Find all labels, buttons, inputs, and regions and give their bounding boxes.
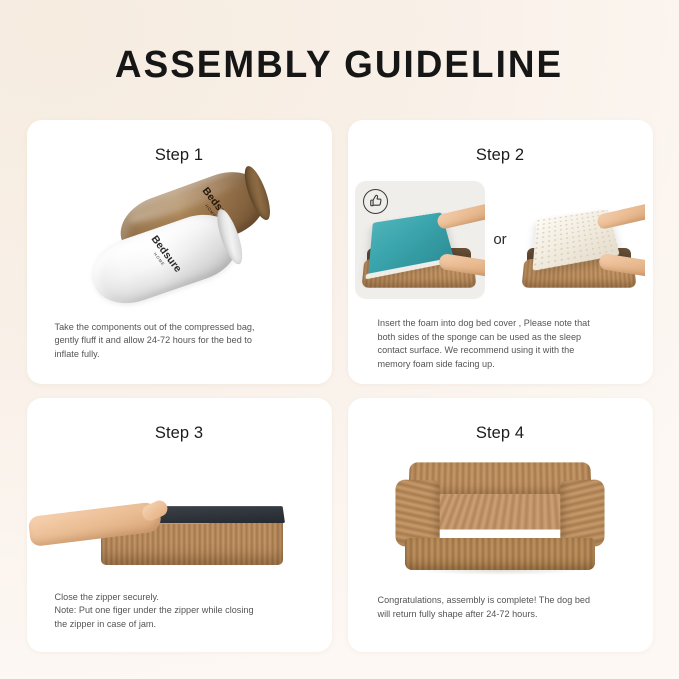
step-1-heading: Step 1 xyxy=(27,146,332,165)
bed-front-edge xyxy=(405,538,595,570)
step-2-illustration: or xyxy=(348,165,653,317)
finished-dog-bed-group xyxy=(381,454,619,586)
hand-upper-right-panel xyxy=(596,203,645,230)
step-2-caption: Insert the foam into dog bed cover , Ple… xyxy=(348,317,653,384)
step-3-caption: Close the zipper securely. Note: Put one… xyxy=(27,591,332,652)
zipper-closing-group xyxy=(65,459,293,579)
step-2-heading: Step 2 xyxy=(348,146,653,165)
foam-memory-side-panel xyxy=(515,181,645,299)
assembly-guideline-page: ASSEMBLY GUIDELINE Step 1 Bedsure HOME B… xyxy=(0,0,679,679)
step-4-caption: Congratulations, assembly is complete! T… xyxy=(348,594,653,652)
step-card-3: Step 3 Close the zipper securely. Note: … xyxy=(27,398,332,652)
step-3-heading: Step 3 xyxy=(27,424,332,443)
foam-options-row: or xyxy=(348,181,653,299)
step-card-4: Step 4 Congratulations, assembly is comp… xyxy=(348,398,653,652)
bed-right-arm-bolster xyxy=(560,479,604,546)
bed-left-arm-bolster xyxy=(395,479,439,546)
hand-upper-left-panel xyxy=(436,203,485,230)
compressed-bags-group: Bedsure HOME Bedsure HOME xyxy=(84,183,274,299)
step-1-illustration: Bedsure HOME Bedsure HOME xyxy=(27,165,332,321)
page-title: ASSEMBLY GUIDELINE xyxy=(115,44,563,87)
step-card-1: Step 1 Bedsure HOME Bedsure HOME xyxy=(27,120,332,384)
steps-grid: Step 1 Bedsure HOME Bedsure HOME xyxy=(27,120,653,652)
or-separator-label: or xyxy=(493,231,506,248)
step-1-caption: Take the components out of the compresse… xyxy=(27,321,332,384)
step-3-illustration xyxy=(27,443,332,591)
white-bag-brand-label: Bedsure HOME xyxy=(145,233,184,277)
foam-smooth-side-panel xyxy=(355,181,485,299)
step-4-heading: Step 4 xyxy=(348,424,653,443)
thumbs-up-icon xyxy=(363,189,388,214)
step-4-illustration xyxy=(348,443,653,594)
step-card-2: Step 2 xyxy=(348,120,653,384)
